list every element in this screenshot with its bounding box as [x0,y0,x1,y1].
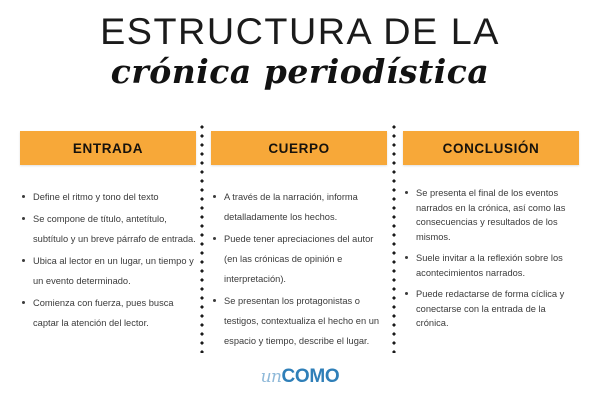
list-item: Define el ritmo y tono del texto [20,187,196,207]
title-block: ESTRUCTURA DE LA crónica periodística [0,12,600,91]
list-item: Puede tener apreciaciones del autor (en … [211,229,387,289]
logo-name: COMO [282,366,340,387]
columns-container: ENTRADA Define el ritmo y tono del texto… [20,131,578,356]
column-header-label: CONCLUSIÓN [443,141,540,156]
list-item: Ubica al lector en un lugar, un tiempo y… [20,251,196,291]
list-item: Se presenta el final de los eventos narr… [403,186,579,244]
list-item: A través de la narración, informa detall… [211,187,387,227]
column-header-label: CUERPO [268,141,329,156]
column-list-conclusion: Se presenta el final de los eventos narr… [403,186,579,331]
column-header-conclusion: CONCLUSIÓN [403,131,579,165]
column-header-cuerpo: CUERPO [211,131,387,165]
column-entrada: ENTRADA Define el ritmo y tono del texto… [20,131,196,335]
list-item: Suele invitar a la reflexión sobre los a… [403,251,579,280]
page-title: ESTRUCTURA DE LA [0,12,600,52]
column-list-entrada: Define el ritmo y tono del texto Se comp… [20,187,196,333]
brand-logo: unCOMO [0,366,600,388]
list-item: Se presentan los protagonistas o testigo… [211,291,387,351]
column-cuerpo: CUERPO A través de la narración, informa… [211,131,387,353]
column-conclusion: CONCLUSIÓN Se presenta el final de los e… [403,131,579,338]
logo-prefix: un [261,367,282,387]
list-item: Se compone de título, antetítulo, subtít… [20,209,196,249]
list-item: Puede redactarse de forma cíclica y cone… [403,287,579,331]
column-header-label: ENTRADA [73,141,143,156]
page-subtitle: crónica periodística [0,53,600,91]
column-list-cuerpo: A través de la narración, informa detall… [211,187,387,351]
list-item: Comienza con fuerza, pues busca captar l… [20,293,196,333]
column-header-entrada: ENTRADA [20,131,196,165]
